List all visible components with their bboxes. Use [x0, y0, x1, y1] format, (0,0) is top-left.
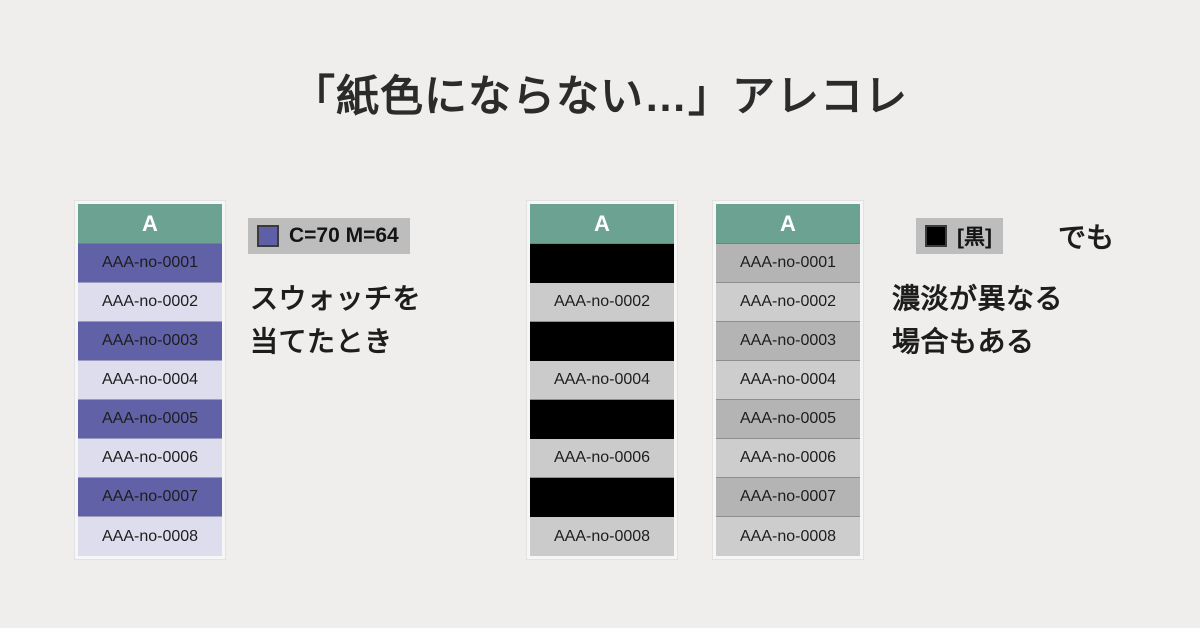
- table-swatch-purple: A AAA-no-0001 AAA-no-0002 AAA-no-0003 AA…: [74, 200, 226, 560]
- legend-label: C=70 M=64: [289, 224, 399, 248]
- caption-density-varies: 濃淡が異なる 場合もある: [892, 278, 1063, 363]
- table-row: AAA-no-0008: [78, 517, 222, 556]
- table-row: AAA-no-0004: [530, 361, 674, 400]
- table-row: AAA-no-0002: [78, 283, 222, 322]
- table-row: AAA-no-0001: [716, 244, 860, 283]
- table-row: AAA-no-0004: [716, 361, 860, 400]
- table-row: AAA-no-0003: [78, 322, 222, 361]
- table-row: AAA-no-0007: [530, 478, 674, 517]
- table-column-header-a: A: [530, 204, 674, 244]
- table-row: AAA-no-0005: [530, 400, 674, 439]
- legend-label: [黒]: [957, 221, 992, 251]
- page-title: 「紙色にならない…」アレコレ: [0, 62, 1200, 124]
- color-swatch-icon: [925, 225, 947, 247]
- table-row: AAA-no-0002: [530, 283, 674, 322]
- caption-swatch-applied: スウォッチを 当てたとき: [250, 278, 421, 363]
- table-row: AAA-no-0006: [78, 439, 222, 478]
- caption-line-1: 濃淡が異なる: [892, 278, 1063, 321]
- caption-line-1: スウォッチを: [250, 278, 421, 321]
- table-column-header-a: A: [716, 204, 860, 244]
- table-row: AAA-no-0005: [716, 400, 860, 439]
- legend-swatch-cmyk: C=70 M=64: [248, 218, 410, 254]
- table-column-header-a: A: [78, 204, 222, 244]
- table-row: AAA-no-0005: [78, 400, 222, 439]
- table-swatch-black: A AAA-no-0001 AAA-no-0002 AAA-no-0003 AA…: [526, 200, 678, 560]
- table-row: AAA-no-0007: [716, 478, 860, 517]
- table-grey-tints: A AAA-no-0001 AAA-no-0002 AAA-no-0003 AA…: [712, 200, 864, 560]
- table-row: AAA-no-0001: [530, 244, 674, 283]
- table-row: AAA-no-0006: [716, 439, 860, 478]
- table-row: AAA-no-0006: [530, 439, 674, 478]
- table-row: AAA-no-0008: [716, 517, 860, 556]
- table-row: AAA-no-0007: [78, 478, 222, 517]
- table-row: AAA-no-0002: [716, 283, 860, 322]
- table-row: AAA-no-0008: [530, 517, 674, 556]
- color-swatch-icon: [257, 225, 279, 247]
- table-row: AAA-no-0001: [78, 244, 222, 283]
- table-row: AAA-no-0003: [530, 322, 674, 361]
- caption-line-2: 当てたとき: [250, 321, 421, 364]
- caption-line-2: 場合もある: [892, 321, 1063, 364]
- legend-suffix: でも: [1058, 216, 1114, 256]
- table-row: AAA-no-0003: [716, 322, 860, 361]
- legend-swatch-black: [黒]: [916, 218, 1003, 254]
- table-row: AAA-no-0004: [78, 361, 222, 400]
